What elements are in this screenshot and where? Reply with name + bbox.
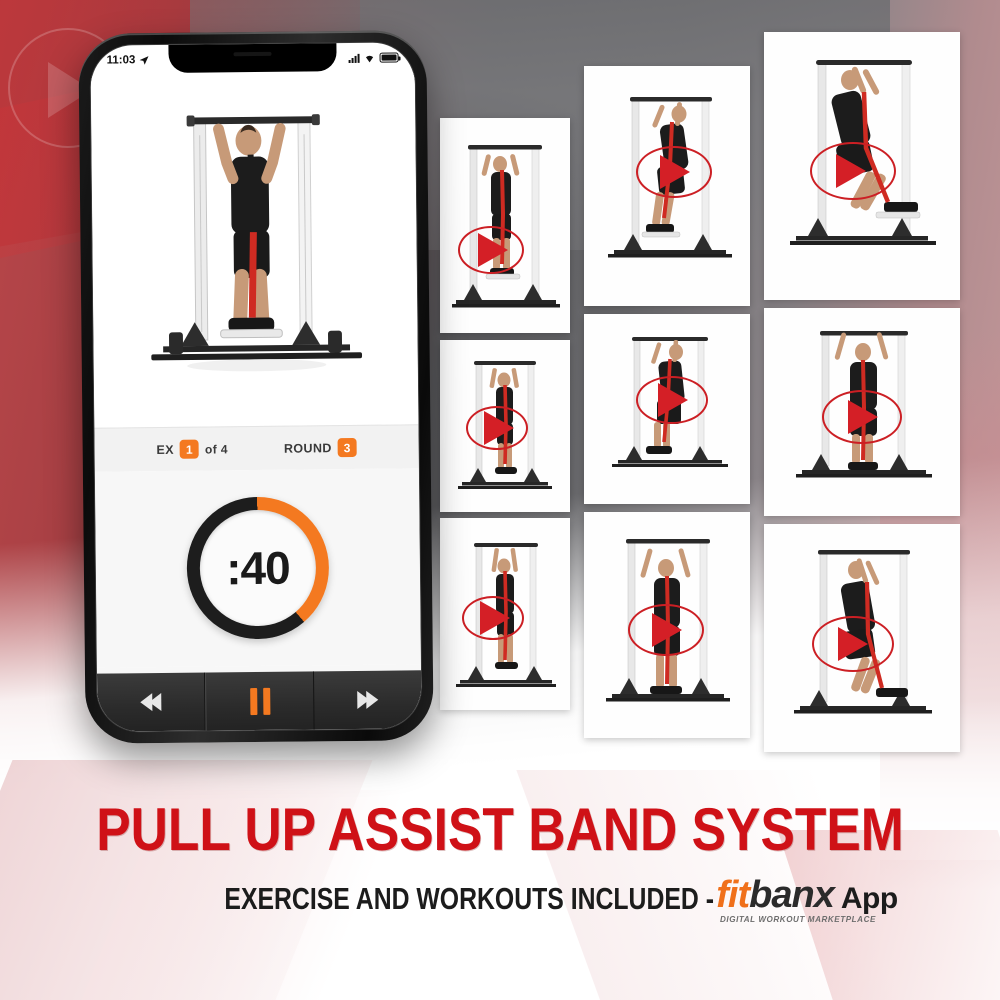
rack-illustration-main [91,72,419,427]
phone-screen: 11:03 [89,41,422,732]
timer-value: :40 [226,541,290,596]
pause-icon [250,687,270,714]
play-triangle-icon [658,383,688,417]
forward-icon [357,691,378,709]
play-overlay-9[interactable] [812,616,894,672]
pause-button[interactable] [205,671,315,730]
play-overlay-2[interactable] [636,146,712,198]
play-triangle-icon [652,613,682,647]
grid-tile-1[interactable] [440,118,570,333]
play-triangle-icon [480,601,510,635]
play-triangle-icon [838,627,868,661]
playback-controls [97,670,422,731]
grid-tile-9[interactable] [764,524,960,752]
play-triangle-icon [848,400,878,434]
timer-progress-ring: :40 [186,496,329,639]
play-overlay-4[interactable] [466,406,528,450]
play-overlay-7[interactable] [462,596,524,640]
round-counter: ROUND 3 [284,438,357,458]
exercise-photo-grid [436,18,984,778]
signal-bars-icon [349,53,360,62]
status-bar-left: 11:03 [107,54,149,66]
play-overlay-3[interactable] [810,142,896,200]
title-block: PULL UP ASSIST BAND SYSTEM EXERCISE AND … [0,800,1000,914]
battery-icon [380,53,399,63]
logo-tagline: DIGITAL WORKOUT MARKETPLACE [720,915,876,924]
rewind-icon [140,693,161,711]
round-label: ROUND [284,441,332,456]
headline: PULL UP ASSIST BAND SYSTEM [70,800,930,860]
play-triangle-icon [836,154,866,188]
logo-banx-text: banx [749,876,834,914]
rewind-button[interactable] [97,673,206,732]
grid-tile-4[interactable] [440,340,570,512]
grid-tile-7[interactable] [440,518,570,710]
logo-app-text: App [841,884,898,914]
status-time: 11:03 [107,54,136,66]
status-bar: 11:03 [90,42,414,75]
round-number-badge: 3 [338,438,357,457]
play-overlay-5[interactable] [636,376,708,424]
timer-inner-face: :40 [199,509,316,626]
phone-mockup: 11:03 [78,30,433,744]
fitbanx-logo: fit banx DIGITAL WORKOUT MARKETPLACE [716,876,834,914]
status-bar-right [349,52,399,63]
poster-canvas: 11:03 [0,0,1000,1000]
play-overlay-1[interactable] [458,226,524,274]
grid-tile-3[interactable] [764,32,960,300]
grid-tile-2[interactable] [584,66,750,306]
exercise-number-badge: 1 [180,440,199,459]
grid-tile-8[interactable] [584,512,750,738]
forward-button[interactable] [314,670,422,729]
grid-tile-5[interactable] [584,314,750,504]
play-overlay-8[interactable] [628,604,704,656]
exercise-label: EX [156,442,174,456]
workout-meta-row: EX 1 of 4 ROUND 3 [94,424,418,471]
play-overlay-6[interactable] [822,390,902,444]
wifi-icon [364,53,376,63]
app-exercise-photo [91,72,419,427]
grid-tile-6[interactable] [764,308,960,516]
exercise-total: of 4 [205,442,228,456]
play-triangle-icon [660,155,690,189]
logo-fit-text: fit [716,876,749,914]
play-triangle-icon [478,233,508,267]
subtitle-text: EXERCISE AND WORKOUTS INCLUDED - [225,883,715,914]
exercise-counter: EX 1 of 4 [156,439,228,459]
subtitle-row: EXERCISE AND WORKOUTS INCLUDED - fit ban… [0,876,1000,914]
play-triangle-icon [484,411,514,445]
timer-section: :40 [95,468,421,667]
location-arrow-icon [139,56,148,65]
